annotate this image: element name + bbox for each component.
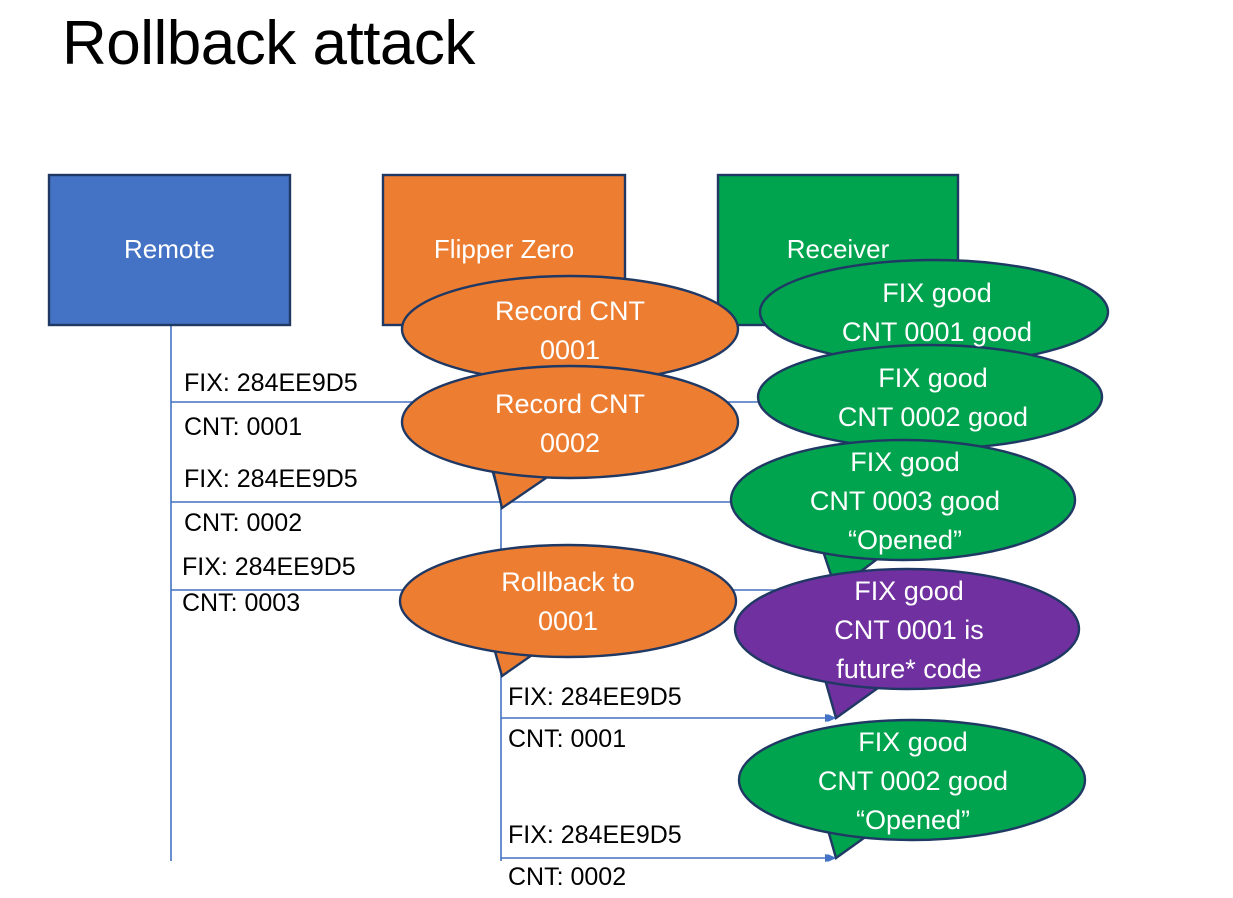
bubble-shape-record-0002 bbox=[402, 366, 738, 508]
message-m4-fix: FIX: 284EE9D5 bbox=[508, 684, 682, 710]
bubble-shape-fix-0003-opened bbox=[731, 440, 1075, 590]
actor-label-receiver: Receiver bbox=[787, 236, 890, 264]
message-m3-fix: FIX: 284EE9D5 bbox=[182, 554, 356, 580]
message-m3-cnt: CNT: 0003 bbox=[182, 590, 300, 616]
actor-remote[interactable]: Remote bbox=[49, 175, 290, 325]
actor-receiver[interactable]: Receiver bbox=[718, 175, 958, 325]
message-m5-cnt: CNT: 0002 bbox=[508, 864, 626, 890]
slide-canvas: Rollback attack bbox=[0, 0, 1233, 898]
actor-flipper[interactable]: Flipper Zero bbox=[383, 175, 625, 325]
actor-label-flipper: Flipper Zero bbox=[434, 236, 574, 264]
message-m1-cnt: CNT: 0001 bbox=[184, 414, 302, 440]
message-m1-fix: FIX: 284EE9D5 bbox=[184, 370, 358, 396]
bubble-shape-future-code-alert bbox=[735, 569, 1079, 718]
sequence-diagram bbox=[0, 0, 1233, 898]
message-m4-cnt: CNT: 0001 bbox=[508, 726, 626, 752]
bubble-shape-rollback-0001 bbox=[400, 545, 736, 676]
bubble-shape-fix-0002-opened bbox=[739, 720, 1085, 858]
message-m2-cnt: CNT: 0002 bbox=[184, 510, 302, 536]
actor-label-remote: Remote bbox=[124, 236, 215, 264]
message-m5-fix: FIX: 284EE9D5 bbox=[508, 822, 682, 848]
message-m2-fix: FIX: 284EE9D5 bbox=[184, 466, 358, 492]
